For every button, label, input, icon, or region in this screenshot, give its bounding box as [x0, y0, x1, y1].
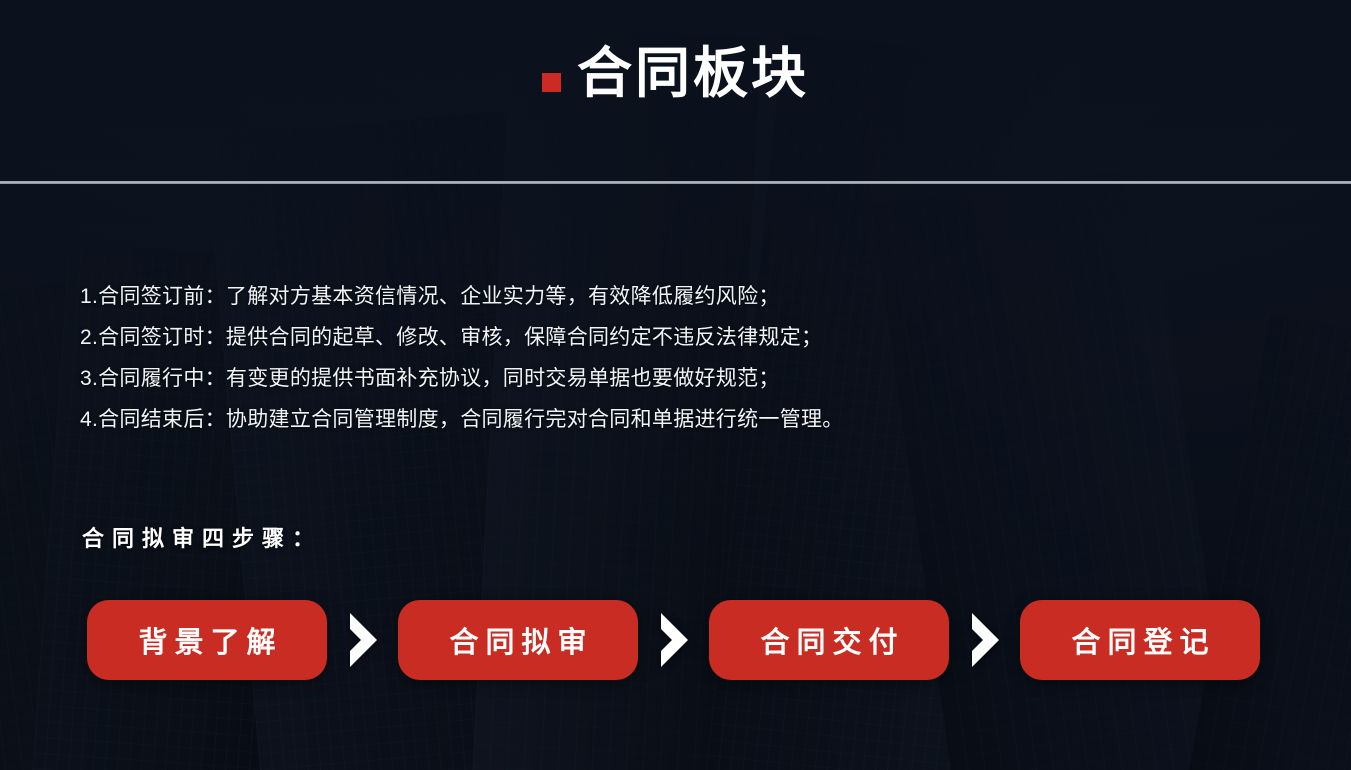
- chevron-right-icon: [638, 611, 709, 669]
- list-item: 2.合同签订时：提供合同的起草、修改、审核，保障合同约定不违反法律规定；: [80, 317, 1230, 358]
- step-pill-1[interactable]: 背景了解: [87, 600, 327, 680]
- step-pill-label: 合同交付: [753, 619, 904, 661]
- red-square-bullet-icon: [542, 73, 561, 92]
- step-pill-4[interactable]: 合同登记: [1020, 600, 1260, 680]
- page-title: 合同板块: [542, 46, 809, 101]
- step-pill-3[interactable]: 合同交付: [709, 600, 949, 680]
- step-pill-label: 合同登记: [1064, 619, 1215, 661]
- chevron-right-icon: [327, 611, 398, 669]
- list-item: 3.合同履行中：有变更的提供书面补充协议，同时交易单据也要做好规范；: [80, 358, 1230, 399]
- step-pill-label: 合同拟审: [442, 619, 593, 661]
- points-list: 1.合同签订前：了解对方基本资信情况、企业实力等，有效降低履约风险； 2.合同签…: [80, 276, 1230, 440]
- slide-root: 合同板块 1.合同签订前：了解对方基本资信情况、企业实力等，有效降低履约风险； …: [0, 0, 1351, 770]
- list-item: 1.合同签订前：了解对方基本资信情况、企业实力等，有效降低履约风险；: [80, 276, 1230, 317]
- slide-header: 合同板块: [0, 0, 1351, 182]
- page-title-text: 合同板块: [577, 46, 809, 101]
- step-pill-2[interactable]: 合同拟审: [398, 600, 638, 680]
- header-divider: [0, 181, 1351, 184]
- steps-pipeline: 背景了解 合同拟审 合同交付 合同登记: [87, 600, 1267, 680]
- list-item: 4.合同结束后：协助建立合同管理制度，合同履行完对合同和单据进行统一管理。: [80, 399, 1230, 440]
- steps-heading: 合同拟审四步骤：: [82, 521, 322, 553]
- chevron-right-icon: [949, 611, 1020, 669]
- step-pill-label: 背景了解: [131, 619, 282, 661]
